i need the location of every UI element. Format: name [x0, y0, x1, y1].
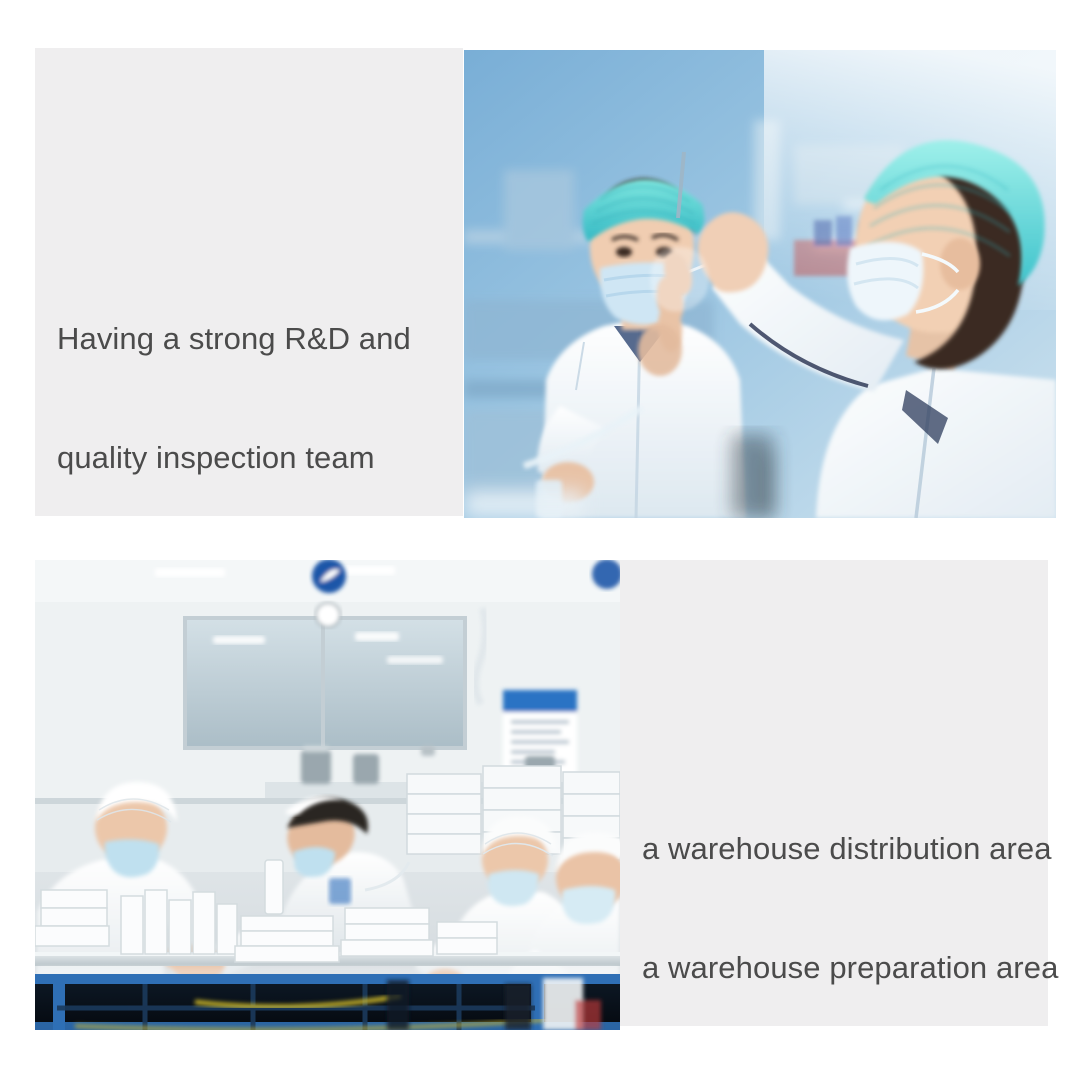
interior-window — [185, 618, 465, 748]
warehouse-caption-line-1: a warehouse distribution area — [642, 829, 1048, 869]
lab-technicians-photo — [464, 50, 1056, 518]
wall-sign-icon — [312, 560, 346, 593]
warehouse-caption-line-2: a warehouse preparation area — [642, 948, 1048, 988]
warehouse-packing-photo — [35, 560, 620, 1030]
lab-technicians-illustration — [464, 50, 1056, 518]
poster-canvas: Having a strong R&D and quality inspecti… — [0, 0, 1080, 1080]
warehouse-caption: a warehouse distribution area a warehous… — [642, 750, 1048, 1067]
rnd-caption-line-2: quality inspection team — [57, 438, 457, 478]
rnd-caption: Having a strong R&D and quality inspecti… — [57, 240, 457, 557]
wall-clock — [316, 603, 340, 627]
rnd-caption-line-1: Having a strong R&D and — [57, 319, 457, 359]
warehouse-packing-illustration — [35, 560, 620, 1030]
